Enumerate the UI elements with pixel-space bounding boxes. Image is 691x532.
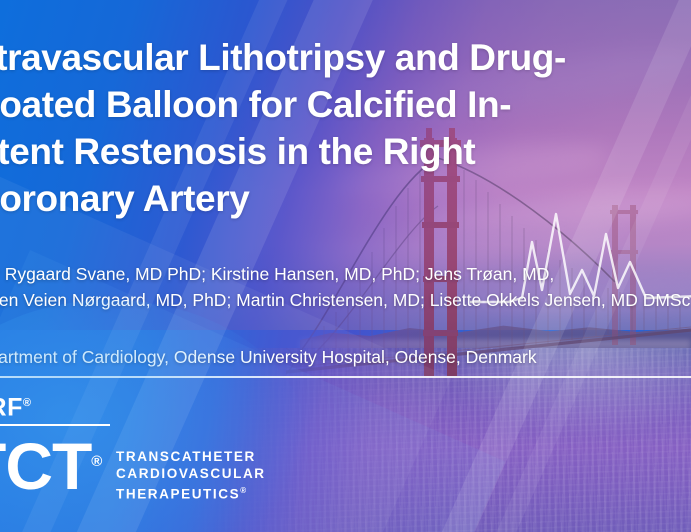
page-title: ntravascular Lithotripsy and Drug- Coate… <box>0 34 691 222</box>
title-line-4: Coronary Artery <box>0 175 691 222</box>
registered-mark-icon: ® <box>23 397 32 409</box>
tagline-line-1: TRANSCATHETER <box>116 448 266 465</box>
crf-wordmark: CRF® <box>0 390 32 420</box>
title-line-2: Coated Balloon for Calcified In- <box>0 81 691 128</box>
registered-mark-icon: ® <box>240 486 246 495</box>
crf-text: CRF <box>0 393 23 421</box>
tagline-line-3: THERAPEUTICS <box>116 487 240 502</box>
tct-text: TCT <box>0 429 91 503</box>
presentation-title-slide: ntravascular Lithotripsy and Drug- Coate… <box>0 0 691 532</box>
authors-line-1: Peter Rygaard Svane, MD PhD; Kirstine Ha… <box>0 261 691 287</box>
tct-wordmark: TCT® <box>0 426 101 502</box>
title-line-1: ntravascular Lithotripsy and Drug- <box>0 34 691 81</box>
tct-logo: CRF® TCT® TRANSCATHETER CARDIOVASCULAR T… <box>0 390 290 510</box>
registered-mark-icon: ® <box>91 453 101 470</box>
title-line-3: Stent Restenosis in the Right <box>0 128 691 175</box>
tagline-line-3-wrap: THERAPEUTICS® <box>116 482 266 503</box>
tct-tagline: TRANSCATHETER CARDIOVASCULAR THERAPEUTIC… <box>116 448 266 503</box>
tagline-line-2: CARDIOVASCULAR <box>116 465 266 482</box>
